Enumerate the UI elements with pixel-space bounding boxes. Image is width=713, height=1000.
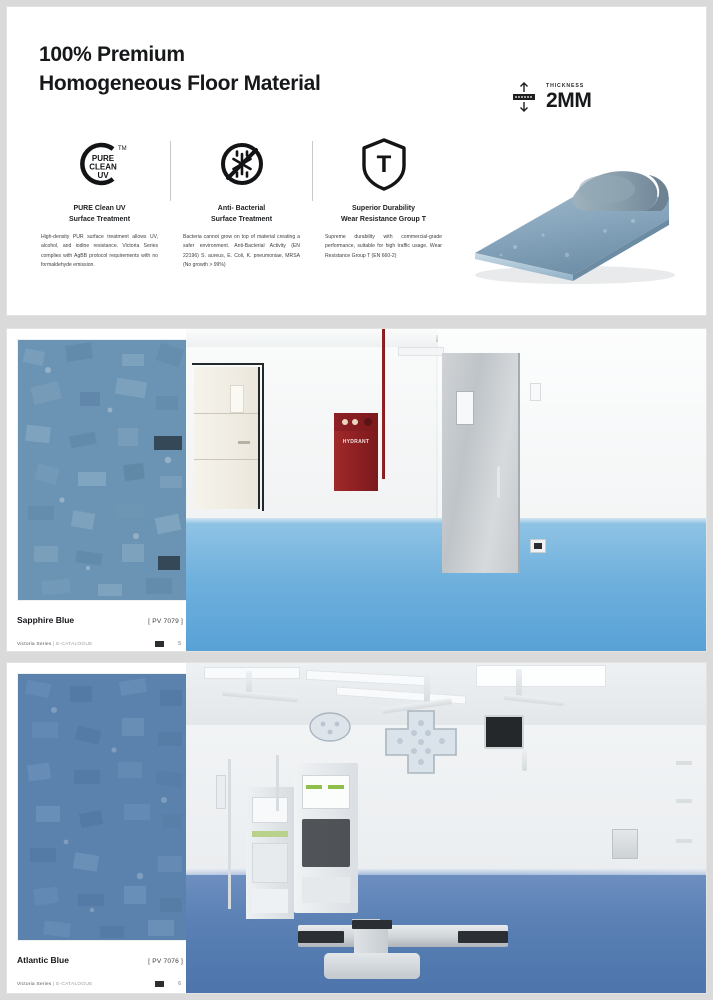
- thickness-text: THICKNESS 2MM: [546, 83, 591, 112]
- swatch-column: Atlantic Blue [ PV 7076 ] Victoria Serie…: [17, 673, 189, 993]
- fire-hydrant-cabinet: HYDRANT: [334, 413, 378, 491]
- operating-room-photo: [186, 663, 706, 993]
- product-series-line: Victoria Series | E-CATALOGUE: [17, 982, 93, 987]
- ceiling-panel: [476, 665, 606, 687]
- table-base: [324, 953, 420, 979]
- feature-title-line-1: Anti- Bacterial: [181, 203, 302, 214]
- anti-bacterial-icon: [181, 133, 302, 195]
- wall-rail: [676, 839, 692, 843]
- color-swatch-sapphire-blue[interactable]: [17, 339, 189, 601]
- ceiling-vent: [398, 347, 444, 356]
- page-marker: 6: [155, 975, 181, 993]
- equipment-pole: [276, 755, 279, 811]
- page-number: 6: [178, 981, 181, 987]
- material-roll-illustration: [455, 135, 687, 287]
- product-name: Sapphire Blue: [17, 615, 74, 625]
- feature-title: Superior Durability Wear Resistance Grou…: [323, 203, 444, 225]
- medical-cart: [246, 787, 294, 919]
- features-panel: 100% Premium Homogeneous Floor Material …: [6, 6, 707, 316]
- shield-durability-icon: T: [323, 133, 444, 195]
- product-code: [ PV 7076 ]: [148, 958, 183, 965]
- feature-title: Anti- Bacterial Surface Treatment: [181, 203, 302, 225]
- hydrant-label: HYDRANT: [334, 439, 378, 445]
- headline-line-2: Homogeneous Floor Material: [39, 69, 321, 99]
- catalogue-label: E-CATALOGUE: [56, 982, 93, 987]
- pure-clean-uv-icon: PURE CLEAN UV TM: [39, 133, 160, 195]
- feature-body: High-density PUR surface treatment allow…: [39, 233, 160, 271]
- product-panel-atlantic-blue: Atlantic Blue [ PV 7076 ] Victoria Serie…: [6, 662, 707, 994]
- feature-body: Bacteria cannot grow on top of material …: [181, 233, 302, 271]
- pendant-arm: [424, 671, 430, 705]
- product-meta-row: Victoria Series | E-CATALOGUE 5: [17, 635, 189, 652]
- iv-bag: [216, 775, 226, 809]
- product-panel-sapphire-blue: Sapphire Blue [ PV 7079 ] Victoria Serie…: [6, 328, 707, 652]
- page-icon: [155, 975, 164, 993]
- beige-door: [194, 367, 260, 509]
- hospital-corridor-photo: HYDRANT: [186, 329, 706, 651]
- meta-separator: |: [53, 982, 54, 987]
- catalog-page: 100% Premium Homogeneous Floor Material …: [0, 0, 713, 1000]
- hydrant-pipe: [382, 329, 385, 479]
- feature-title-line-1: Superior Durability: [323, 203, 444, 214]
- feature-pure-clean-uv: PURE CLEAN UV TM PURE Clean UV Surface T…: [33, 133, 166, 271]
- feature-divider: [312, 141, 313, 201]
- iv-pole: [228, 759, 231, 909]
- table-headrest: [352, 920, 392, 929]
- product-series-line: Victoria Series | E-CATALOGUE: [17, 642, 93, 647]
- wall-rail: [676, 799, 692, 803]
- ceiling-monitor: [484, 715, 524, 749]
- thickness-icon: [511, 81, 537, 113]
- swatch-column: Sapphire Blue [ PV 7079 ] Victoria Serie…: [17, 339, 189, 652]
- thickness-badge: THICKNESS 2MM: [511, 81, 591, 113]
- surgical-light: [376, 707, 438, 757]
- feature-divider: [170, 141, 171, 201]
- meta-separator: |: [53, 642, 54, 647]
- thickness-value: 2MM: [546, 90, 591, 112]
- card-reader: [530, 383, 541, 401]
- headline-line-1: 100% Premium: [39, 41, 321, 69]
- page-title: 100% Premium Homogeneous Floor Material: [39, 41, 321, 99]
- product-name-row: Sapphire Blue [ PV 7079 ]: [17, 615, 189, 625]
- svg-text:T: T: [376, 151, 391, 178]
- feature-title-line-1: PURE Clean UV: [39, 203, 160, 214]
- feature-superior-durability: T Superior Durability Wear Resistance Gr…: [317, 133, 450, 271]
- monitor-arm: [522, 749, 527, 771]
- color-swatch-atlantic-blue[interactable]: [17, 673, 189, 941]
- feature-body: Supreme durability with commercial-grade…: [323, 233, 444, 261]
- page-number: 5: [178, 641, 181, 647]
- page-marker: 5: [155, 635, 181, 652]
- product-meta-row: Victoria Series | E-CATALOGUE 6: [17, 975, 189, 993]
- wall-service-panel: [612, 829, 638, 859]
- door-viewing-window: [456, 391, 474, 425]
- product-name-row: Atlantic Blue [ PV 7076 ]: [17, 955, 189, 965]
- product-name: Atlantic Blue: [17, 955, 69, 965]
- feature-title-line-2: Surface Treatment: [181, 214, 302, 225]
- wall-rail: [676, 761, 692, 765]
- door-handle: [496, 465, 501, 499]
- page-icon: [155, 635, 164, 652]
- anesthesia-machine: [294, 763, 358, 913]
- svg-text:UV: UV: [97, 171, 109, 180]
- product-series: Victoria Series: [17, 982, 51, 987]
- product-code: [ PV 7079 ]: [148, 618, 183, 625]
- feature-title-line-2: Wear Resistance Group T: [323, 214, 444, 225]
- operating-table: [298, 925, 508, 947]
- feature-anti-bacterial: Anti- Bacterial Surface Treatment Bacter…: [175, 133, 308, 271]
- feature-title-line-2: Surface Treatment: [39, 214, 160, 225]
- stainless-sliding-door: [442, 353, 520, 573]
- surgical-light-secondary: [308, 709, 352, 745]
- catalogue-label: E-CATALOGUE: [56, 642, 93, 647]
- feature-title: PURE Clean UV Surface Treatment: [39, 203, 160, 225]
- svg-text:TM: TM: [118, 146, 127, 152]
- product-series: Victoria Series: [17, 642, 51, 647]
- wall-outlet: [530, 539, 546, 553]
- feature-list: PURE CLEAN UV TM PURE Clean UV Surface T…: [33, 133, 458, 271]
- ceiling-panel: [204, 667, 300, 679]
